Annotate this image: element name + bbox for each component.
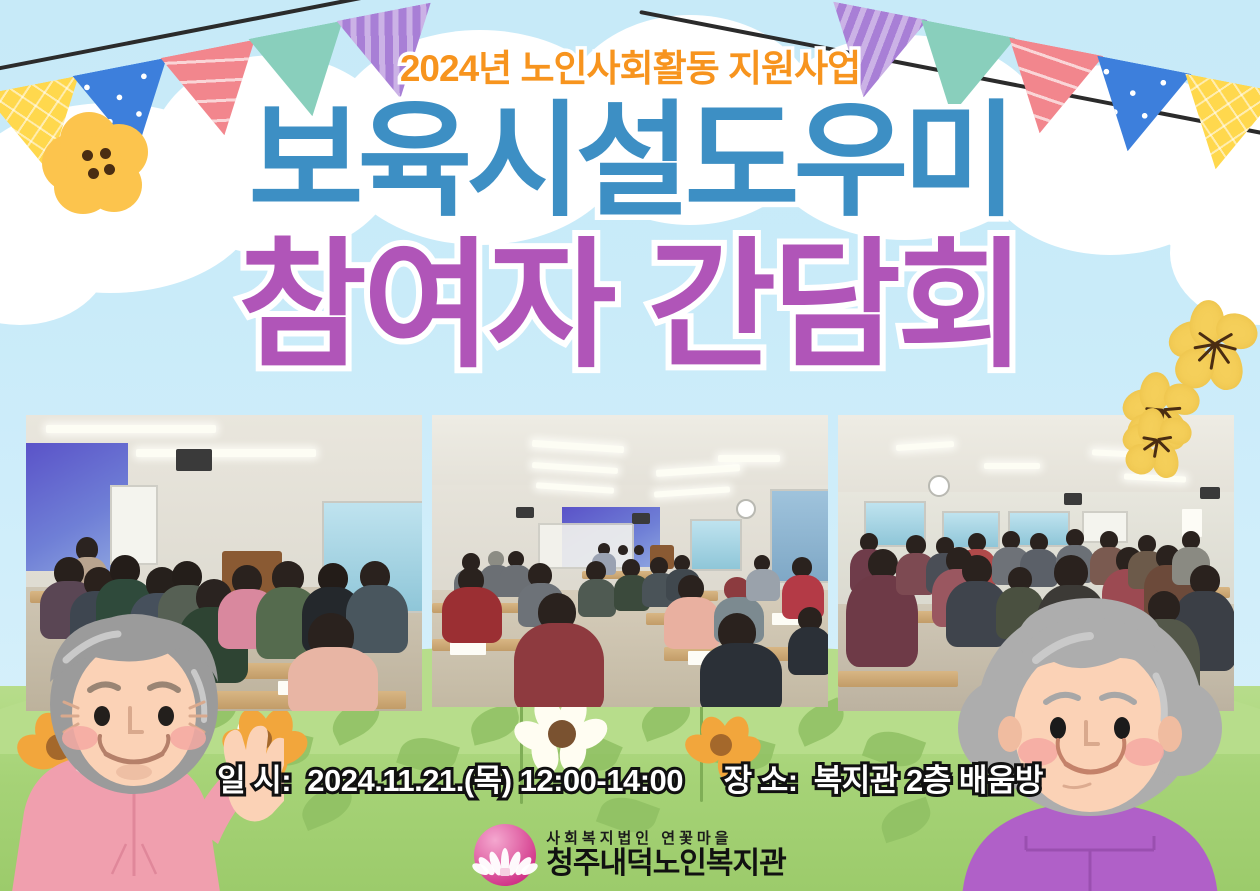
logo-center-name: 청주내덕노인복지관	[546, 849, 785, 879]
event-info-line: 일 시: 2024.11.21.(목) 12:00-14:00 장 소: 복지관…	[0, 755, 1260, 800]
logo-corporation-name: 사회복지법인 연꽃마을	[546, 831, 785, 846]
poster-canvas: 2024년 노인사회활동 지원사업 보육시설도우미 참여자 간담회	[0, 0, 1260, 891]
yellow-lily-flower-photo-icon	[1122, 408, 1192, 478]
lotus-flower-icon	[474, 824, 536, 886]
poster-title-line1: 보육시설도우미	[0, 96, 1260, 227]
yellow-pop-flower-icon	[42, 112, 152, 217]
poster-title-line2: 참여자 간담회	[0, 232, 1260, 379]
program-subtitle: 2024년 노인사회활동 지원사업	[0, 38, 1260, 92]
organization-logo: 사회복지법인 연꽃마을 청주내덕노인복지관	[0, 820, 1260, 890]
photo-classroom-wide	[432, 415, 828, 707]
